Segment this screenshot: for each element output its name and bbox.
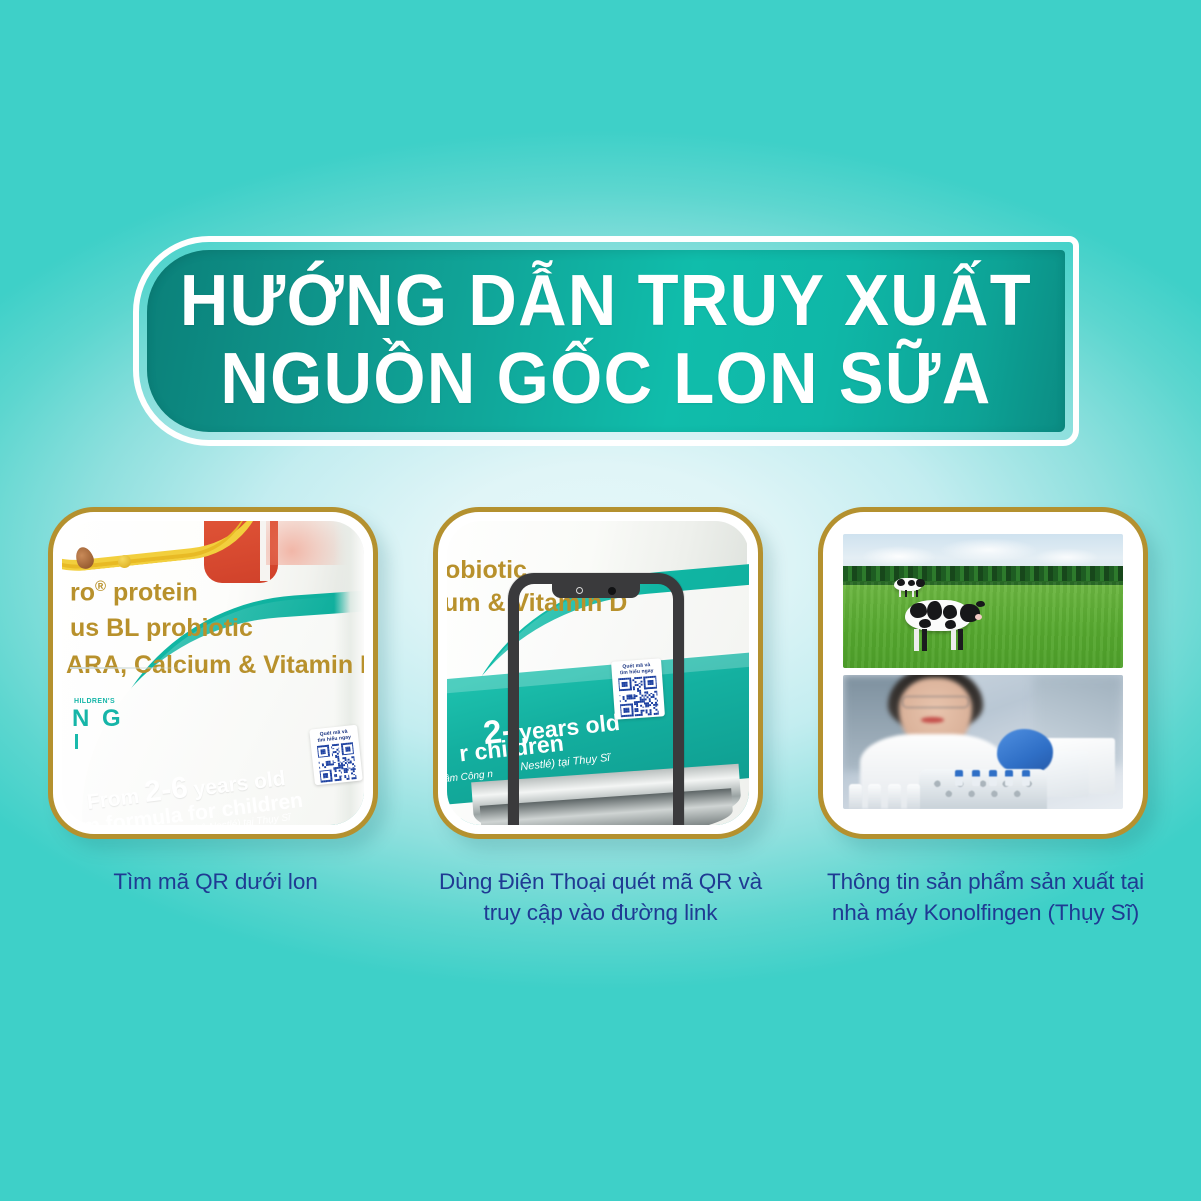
technician-lips [921, 717, 943, 724]
title-line-1: HƯỚNG DẪN TRUY XUẤT [166, 262, 1046, 340]
can-label-closeup: ro® protein us BL probiotic ARA, Calcium… [62, 521, 364, 825]
sample-vial [989, 770, 997, 786]
step-card-row: ro® protein us BL probiotic ARA, Calcium… [0, 507, 1201, 839]
step-caption-2-line-2: truy cập vào đường link [433, 897, 768, 928]
step-card-3-images [832, 521, 1134, 825]
sample-vial [972, 770, 980, 786]
step-caption-3-line-2: nhà máy Konolfingen (Thụy Sĩ) [818, 897, 1153, 928]
step-card-1[interactable]: ro® protein us BL probiotic ARA, Calcium… [48, 507, 378, 839]
cow-near-icon [905, 600, 983, 652]
step-card-2-image: obiotic um & Vitamin D 2- years old r ch… [447, 521, 749, 825]
sample-vial [1005, 770, 1013, 786]
step-caption-2-line-1: Dùng Điện Thoại quét mã QR và [433, 866, 768, 897]
step-card-1-image: ro® protein us BL probiotic ARA, Calcium… [62, 521, 364, 825]
step-caption-3: Thông tin sản phẩm sản xuất tại nhà máy … [818, 866, 1153, 928]
treeline [843, 566, 1123, 582]
step-card-3[interactable] [818, 507, 1148, 839]
phone-notch [552, 583, 640, 598]
phone-scanning-can: obiotic um & Vitamin D 2- years old r ch… [447, 521, 749, 825]
label-line-3: ARA, Calcium & Vitamin D [66, 651, 364, 680]
step-caption-3-line-1: Thông tin sản phẩm sản xuất tại [818, 866, 1153, 897]
label-big-caps: N G [72, 705, 124, 733]
label-line-2: us BL probiotic [70, 614, 253, 643]
label-line-1: ro® protein [70, 578, 198, 607]
cow-far-icon [894, 578, 926, 598]
camera-dot-icon [608, 587, 616, 595]
test-tube [868, 784, 881, 809]
grass-texture [843, 582, 1123, 668]
test-tube [907, 784, 920, 809]
qr-code-sticker-1[interactable]: Quét mã và tìm hiểu ngay [309, 725, 363, 785]
qr-code-icon [317, 742, 357, 782]
smartphone-frame[interactable] [508, 573, 684, 825]
camera-ring-icon [576, 587, 583, 594]
caption-row: Tìm mã QR dưới lon Dùng Điện Thoại quét … [0, 866, 1201, 928]
test-tube [849, 784, 862, 809]
step-caption-1: Tìm mã QR dưới lon [48, 866, 383, 928]
step-card-2[interactable]: obiotic um & Vitamin D 2- years old r ch… [433, 507, 763, 839]
gold-bead-icon [118, 555, 131, 568]
safety-glasses-icon [902, 696, 969, 708]
label-divider [70, 667, 200, 669]
blue-glove-icon [997, 729, 1053, 775]
sample-vial [1022, 770, 1030, 786]
poster-canvas: HƯỚNG DẪN TRUY XUẤT NGUỒN GỐC LON SỮA [0, 0, 1201, 1201]
photo-lab-technician [843, 675, 1123, 809]
title-line-2: NGUỒN GỐC LON SỮA [166, 340, 1046, 418]
sample-vial [955, 770, 963, 786]
test-tube [888, 784, 901, 809]
step-column-3 [818, 507, 1153, 839]
label-small-caps: HILDREN'S [74, 698, 115, 705]
photo-cows-pasture [843, 534, 1123, 668]
label-accent-bar [75, 734, 78, 749]
step-caption-2: Dùng Điện Thoại quét mã QR và truy cập v… [433, 866, 768, 928]
step-column-2: obiotic um & Vitamin D 2- years old r ch… [433, 507, 768, 839]
page-title: HƯỚNG DẪN TRUY XUẤT NGUỒN GỐC LON SỮA [166, 262, 1046, 418]
title-banner: HƯỚNG DẪN TRUY XUẤT NGUỒN GỐC LON SỮA [133, 236, 1079, 446]
step-column-1: ro® protein us BL probiotic ARA, Calcium… [48, 507, 383, 839]
